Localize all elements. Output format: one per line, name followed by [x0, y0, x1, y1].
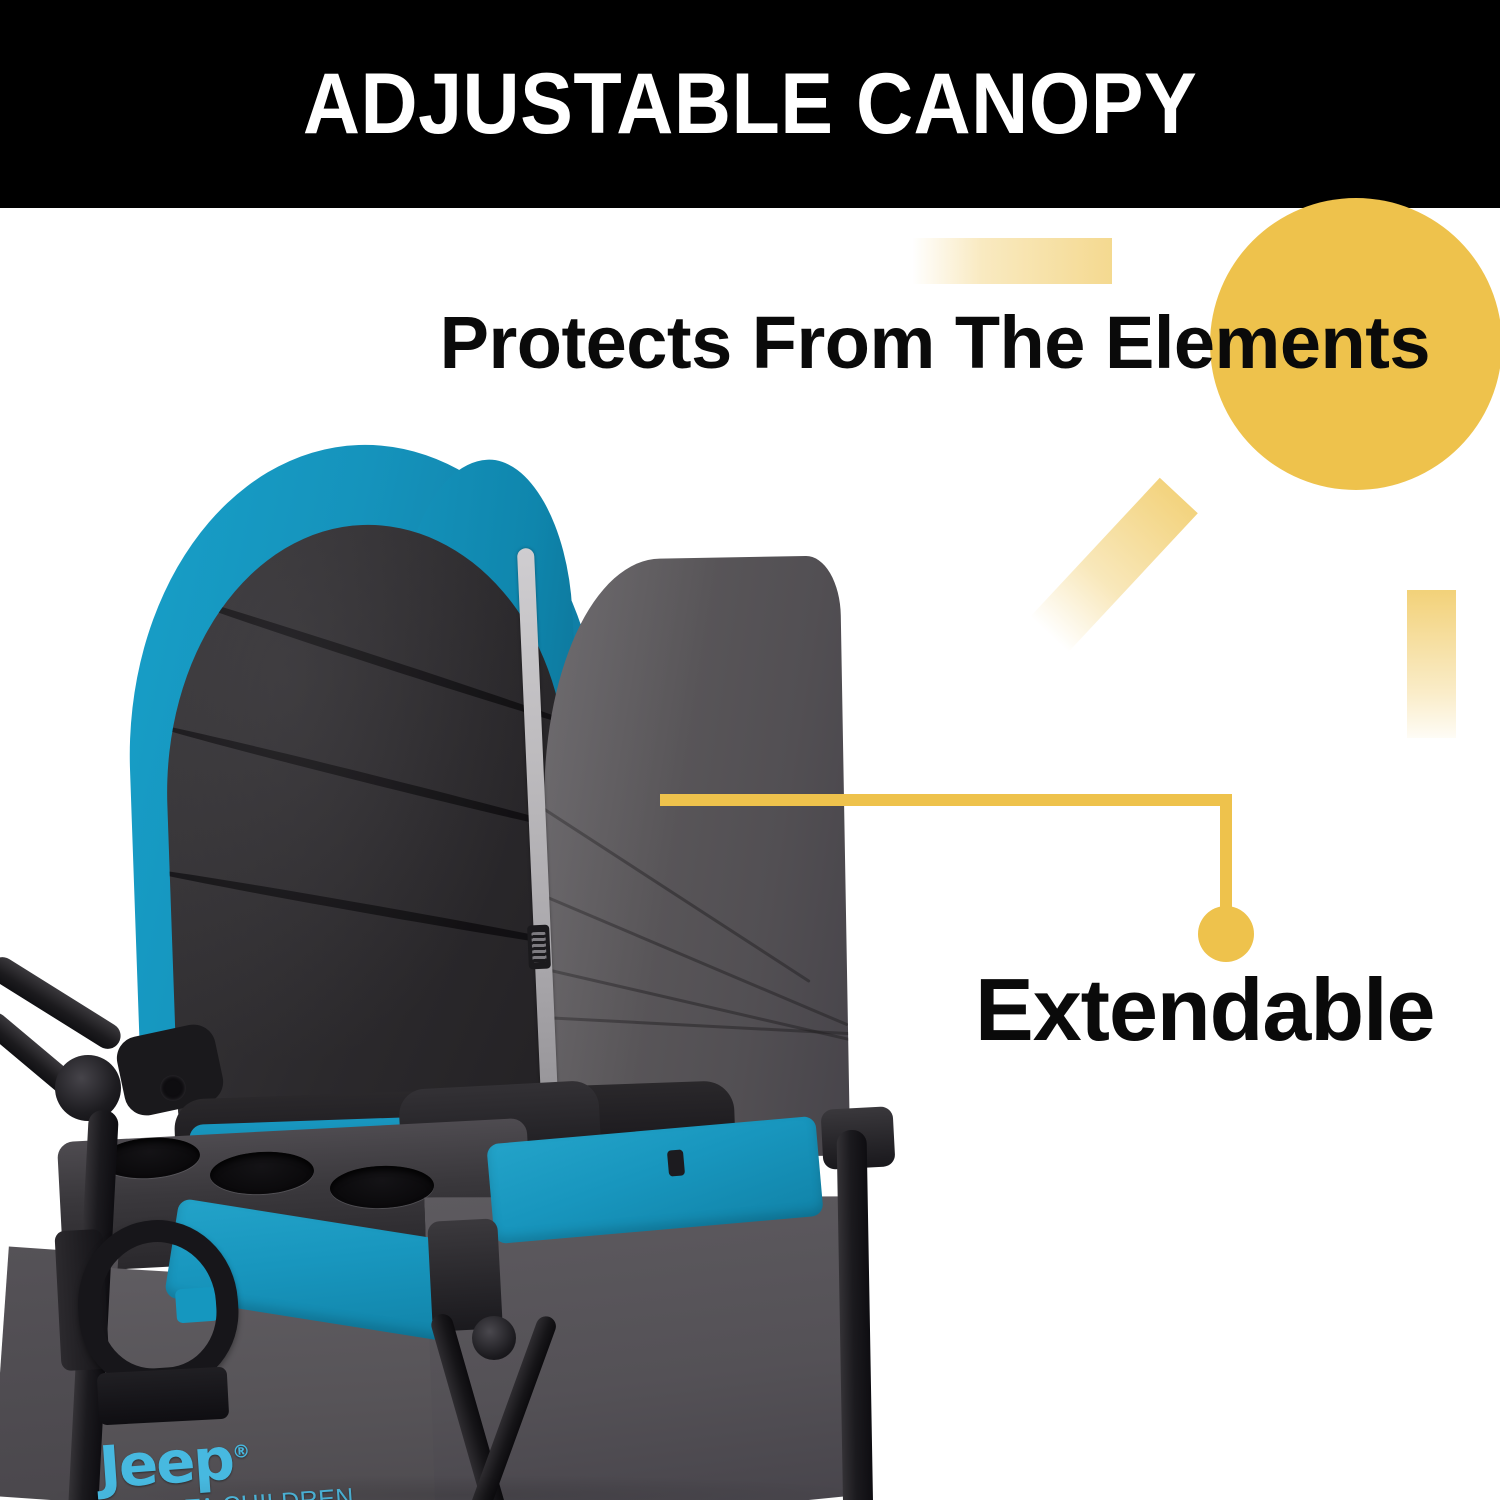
wagon-frame-brace-pivot [472, 1316, 516, 1360]
header-banner: ADJUSTABLE CANOPY [0, 0, 1500, 208]
callout-leader-horizontal [660, 794, 1232, 806]
callout-leader-vertical [1220, 794, 1232, 920]
wagon-frame-post-right [837, 1130, 874, 1500]
product-feature-image: ADJUSTABLE CANOPY Protects From The Elem… [0, 0, 1500, 1500]
canopy-panel-highlight [540, 555, 850, 1160]
callout-label: Extendable [975, 962, 1434, 1059]
horizontal-bar-decoration [912, 238, 1112, 284]
vertical-bar-decoration [1407, 590, 1456, 738]
canopy-zipper-pull [527, 925, 551, 970]
headline-text: Protects From The Elements [0, 306, 1430, 380]
product-photo: Jeep® by DELTA CHILDREN [0, 430, 920, 1500]
canopy-extendable-panel [540, 555, 850, 1160]
diagonal-bar-decoration [1030, 478, 1198, 652]
canopy-mesh-panel [158, 518, 578, 1122]
canopy-mesh-shading [158, 518, 578, 1122]
wagon-rail-button [667, 1149, 685, 1176]
banner-title: ADJUSTABLE CANOPY [303, 61, 1197, 147]
cup-holder-base [97, 1367, 230, 1426]
callout-dot-icon [1198, 906, 1254, 962]
canopy-hinge-bolt [160, 1075, 186, 1101]
registered-trademark-icon: ® [232, 1441, 251, 1463]
product-ground-shadow [40, 1475, 880, 1500]
